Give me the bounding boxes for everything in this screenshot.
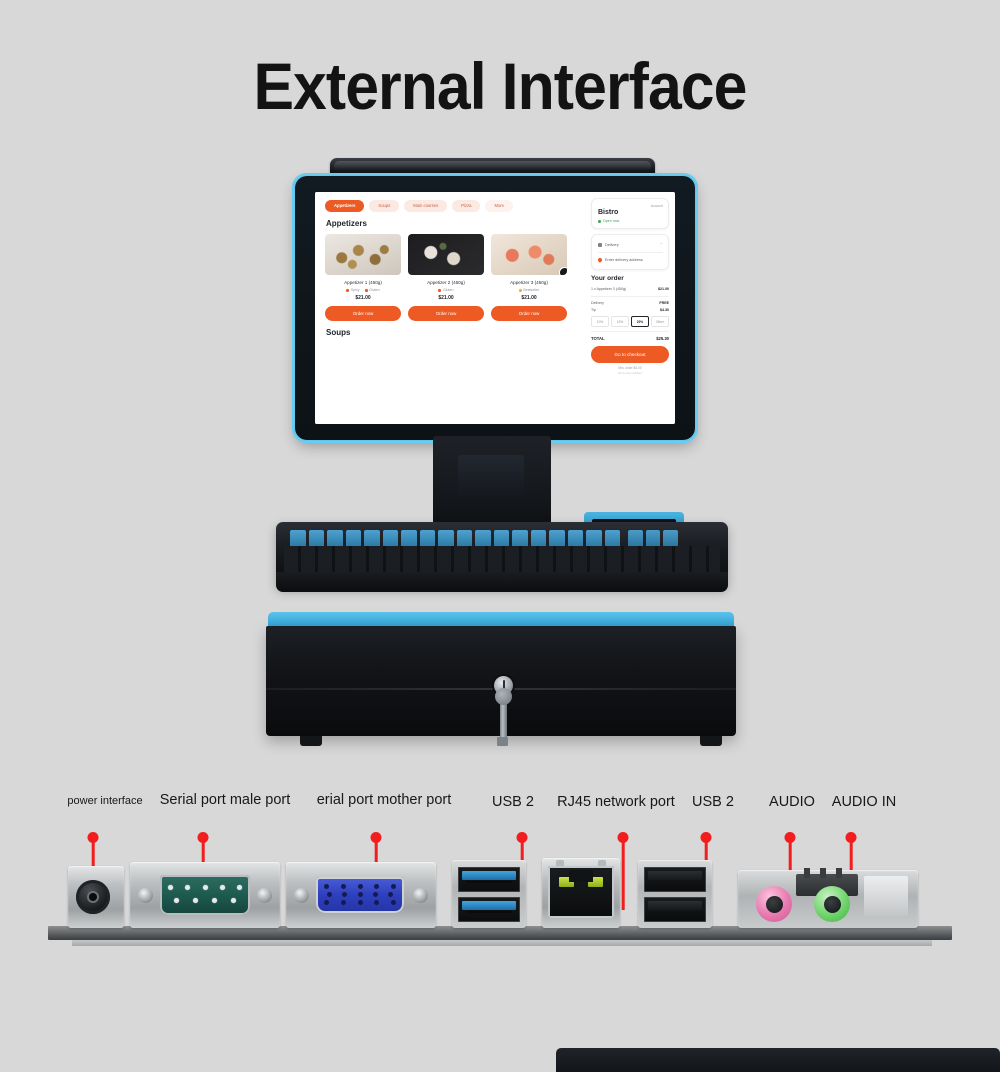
category-pill-main-courses[interactable]: Main courses [404,200,447,212]
serial-port-mother-port[interactable] [286,862,436,928]
db9-connector [160,875,250,915]
tag-label: Bestseller [523,288,539,292]
page-root: External Interface Appetizers Soups Main… [0,0,1000,1000]
db9-pin-row-top [168,885,242,890]
category-pill-more[interactable]: More [485,200,513,212]
category-pill-appetizers[interactable]: Appetizers [325,200,364,212]
db9-pin-row-bottom [174,898,236,903]
stand-panel [458,455,524,499]
power-interface-port[interactable] [68,866,124,928]
divider [591,296,669,297]
keyboard-front-edge [276,572,728,592]
callout-label-usb3: USB 2 [492,794,534,810]
category-pill-row: Appetizers Soups Main courses Pizza More [325,200,583,212]
menu-item-image [408,234,484,275]
section-title-soups: Soups [326,328,583,337]
usb-3-stack-port[interactable] [452,860,526,928]
menu-card[interactable]: Appetizer 3 (450g) Bestseller $21.00 Ord… [491,234,567,321]
pin [231,898,236,903]
usb-port-lower[interactable] [644,897,706,922]
tip-option-10[interactable]: 10% [591,316,609,327]
callout-label-serial-male: Serial port male port [160,792,291,808]
keyboard-top-deck [556,1048,1000,1072]
star-icon [518,288,522,292]
tag-gluten: Gluten [438,288,453,292]
tag-label: Gluten [369,288,380,292]
audio-jack-group [738,870,918,928]
usb-black-insert-icon [648,871,702,880]
pin [212,898,217,903]
callout-label-usb2: USB 2 [692,794,734,810]
status-label: Open now [603,219,619,223]
hole [358,892,363,897]
screw-icon [138,888,153,903]
menu-card-list: Appetizer 1 (450g) Spicy Gluten $21.00 O… [325,234,583,321]
order-line-price: $21.00 [658,287,669,291]
page-title: External Interface [40,48,960,124]
menu-item-price: $21.00 [325,295,401,301]
serial-port-male-port[interactable] [130,862,280,928]
tag-label: Spicy [351,288,360,292]
cart-badge-icon [559,267,567,275]
vga-hole-row-1 [324,884,396,889]
wheat-icon [438,288,442,292]
usb-port-upper[interactable] [644,867,706,892]
wheat-icon [364,288,368,292]
usb-blue-insert-icon [462,871,516,880]
hole [388,892,393,897]
screw-icon [257,888,272,903]
delivery-fee-row: Delivery FREE [591,299,669,306]
address-input[interactable]: Enter delivery address [598,256,663,264]
rj45-network-port[interactable] [542,858,620,928]
menu-item-name: Appetizer 2 (450g) [408,280,484,285]
callout-label-rj45: RJ45 network port [557,794,675,810]
hole [324,884,329,889]
usb-blue-insert-icon [462,901,516,910]
menu-item-tags: Spicy Gluten [325,288,401,292]
usb-port-lower[interactable] [458,897,520,922]
io-rail [48,926,952,940]
app-main-column: Appetizers Soups Main courses Pizza More… [315,192,591,424]
pin [168,885,173,890]
pos-screen: Appetizers Soups Main courses Pizza More… [315,192,675,424]
divider [598,252,663,253]
tip-option-20[interactable]: 20% [631,316,649,327]
dc-power-jack-icon [76,880,110,914]
drawer-key[interactable] [500,692,507,746]
category-pill-pizza[interactable]: Pizza [452,200,480,212]
chili-icon [346,288,350,292]
ordering-app: Appetizers Soups Main courses Pizza More… [315,192,675,424]
usb-2-stack-port[interactable] [638,860,712,928]
drawer-foot-right [700,736,722,746]
hole [374,900,379,905]
usb-port-upper[interactable] [458,867,520,892]
pos-monitor: Appetizers Soups Main courses Pizza More… [295,176,695,440]
jack-hole-icon [766,896,783,913]
menu-item-image [325,234,401,275]
order-line-item: 1 x Appetizer 3 (450g) $21.00 [591,286,669,293]
audio-in-jack[interactable] [814,886,850,922]
account-link[interactable]: Account [598,204,663,208]
menu-item-image [491,234,567,275]
tip-row: Tip $4.30 [591,306,669,313]
menu-item-tags: Gluten [408,288,484,292]
order-summary-panel: Your order 1 x Appetizer 3 (450g) $21.00… [591,275,669,375]
rj45-latch-icon [569,870,593,882]
order-now-button[interactable]: Order now [408,306,484,321]
pin [203,885,208,890]
tip-option-15[interactable]: 15% [611,316,629,327]
menu-item-tags: Bestseller [491,288,567,292]
section-title-appetizers: Appetizers [326,219,583,228]
callout-label-audio-in: AUDIO IN [832,794,896,810]
terms-link[interactable]: Terms and conditions [591,372,669,375]
pin [237,885,242,890]
hole [341,900,346,905]
delivery-panel: Delivery ⌃ Enter delivery address [591,234,669,270]
usb-black-insert-icon [648,901,702,910]
location-pin-icon [597,257,603,263]
tip-value: $4.30 [660,308,669,312]
tip-option-other[interactable]: Other [651,316,669,327]
truck-icon [598,243,602,247]
restaurant-name: Bistro [598,209,663,216]
io-side-plate [864,876,908,916]
screw-icon [294,888,309,903]
hole [358,884,363,889]
tag-bestseller: Bestseller [519,288,539,292]
tip-option-group: 10% 15% 20% Other [591,316,669,327]
pin [185,885,190,890]
menu-item-name: Appetizer 3 (450g) [491,280,567,285]
callout-label-serial-mother: erial port mother port [317,792,452,808]
chevron-down-icon: ⌃ [660,242,663,247]
hole [374,884,379,889]
total-value: $25.30 [656,336,669,341]
hole [391,884,396,889]
hole [391,900,396,905]
menu-item-name: Appetizer 1 (450g) [325,280,401,285]
order-now-button[interactable]: Order now [325,306,401,321]
hole [342,892,347,897]
status-dot-icon [598,220,601,223]
callout-label-power-interface: power interface [67,795,142,807]
hole [327,892,332,897]
jack-hole-icon [824,896,841,913]
menu-item-price: $21.00 [408,295,484,301]
pin [220,885,225,890]
delivery-select[interactable]: Delivery ⌃ [598,240,663,249]
delivery-fee-value: FREE [659,301,669,305]
hole [324,900,329,905]
tag-gluten: Gluten [365,288,380,292]
vga-hole-row-3 [324,900,396,905]
go-to-checkout-button[interactable]: Go to checkout [591,346,669,363]
app-sidebar: Account Bistro Open now Delivery [591,192,675,424]
screw-icon [413,888,428,903]
menu-card[interactable]: Appetizer 2 (450g) Gluten $21.00 Order n… [408,234,484,321]
divider [591,331,669,332]
status-badge: Open now [598,219,663,223]
callout-label-audio: AUDIO [769,794,815,810]
tip-label: Tip [591,308,596,312]
total-label: TOTAL [591,336,605,341]
vga-hole-row-2 [327,892,393,897]
address-placeholder: Enter delivery address [605,258,643,262]
order-title: Your order [591,275,669,282]
audio-mic-jack[interactable] [756,886,792,922]
rj45-connector [548,866,614,918]
tag-spicy: Spicy [346,288,359,292]
pin [174,898,179,903]
menu-item-price: $21.00 [491,295,567,301]
min-order-note: Min. order $0.00 [591,366,669,370]
delivery-fee-label: Delivery [591,301,604,305]
drawer-foot-left [300,736,322,746]
hole [373,892,378,897]
category-pill-soups[interactable]: Soups [369,200,399,212]
restaurant-panel: Account Bistro Open now [591,198,669,229]
hole [358,900,363,905]
tag-label: Gluten [443,288,454,292]
menu-card[interactable]: Appetizer 1 (450g) Spicy Gluten $21.00 O… [325,234,401,321]
pin [193,898,198,903]
order-now-button[interactable]: Order now [491,306,567,321]
io-panel [48,872,952,950]
order-line-label: 1 x Appetizer 3 (450g) [591,287,626,291]
total-row: TOTAL $25.30 [591,335,669,343]
delivery-option-label: Delivery [605,243,619,247]
hole [341,884,346,889]
